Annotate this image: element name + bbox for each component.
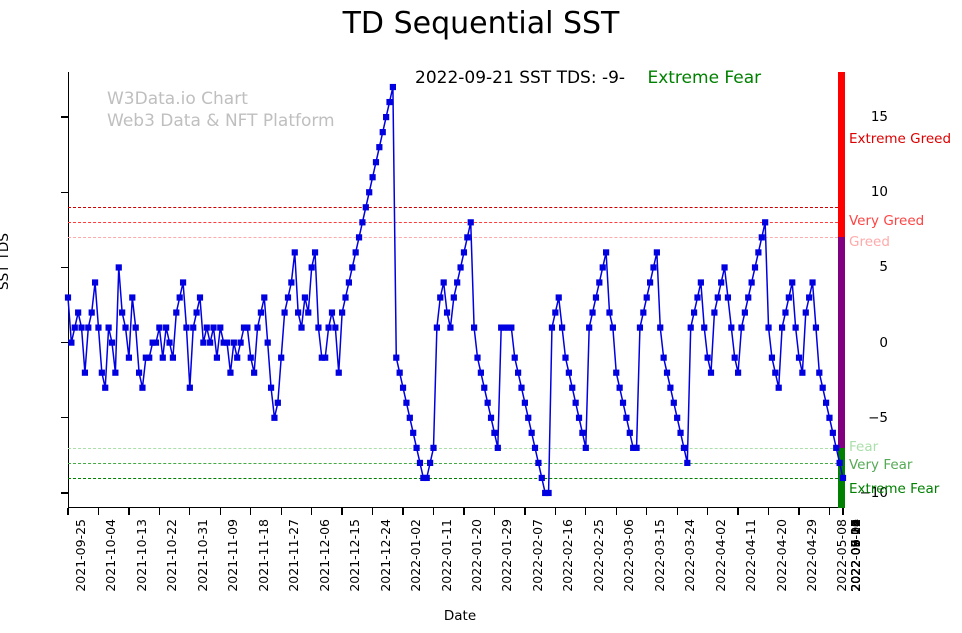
y-tick-mark [61,492,68,493]
x-tick-mark [555,508,556,515]
x-tick-mark [842,508,843,515]
x-tick-mark [707,508,708,515]
y-tick-mark [61,116,68,117]
x-tick-label: 2022-09-20 [848,519,863,592]
x-tick-mark [159,508,160,515]
x-tick-label: 2022-01-02 [408,519,423,592]
threshold-line-extreme-greed [68,207,843,208]
x-tick-mark [311,508,312,515]
x-tick-mark [585,508,586,515]
threshold-label-fear: Fear [849,439,878,455]
threshold-line-fear [68,448,843,449]
x-tick-mark [341,508,342,515]
x-tick-label: 2021-11-18 [256,519,271,592]
x-tick-mark [616,508,617,515]
x-tick-mark [494,508,495,515]
x-tick-mark [98,508,99,515]
x-tick-label: 2022-04-20 [774,519,789,592]
x-tick-mark [677,508,678,515]
x-tick-mark [402,508,403,515]
y-tick-mark [61,267,68,268]
x-tick-label: 2021-11-27 [286,519,301,592]
x-tick-label: 2021-10-22 [164,519,179,592]
y-tick-label: 5 [848,259,888,275]
x-tick-label: 2021-10-04 [103,519,118,592]
y-axis-label: SST TDS [0,233,12,290]
y-tick-mark [61,192,68,193]
threshold-line-very-fear [68,463,843,464]
y-tick-label: −5 [848,410,888,426]
x-tick-mark [798,508,799,515]
x-tick-mark [220,508,221,515]
threshold-label-very-greed: Very Greed [849,213,924,229]
threshold-line-greed [68,237,843,238]
y-tick-label: 10 [848,184,888,200]
x-tick-mark [189,508,190,515]
x-tick-mark [250,508,251,515]
y-tick-mark [61,342,68,343]
y-tick-mark [61,417,68,418]
x-tick-label: 2022-02-07 [530,519,545,592]
y-tick-label: 15 [848,109,888,125]
x-tick-label: 2022-02-16 [560,519,575,592]
chart-title: TD Sequential SST [0,6,962,41]
x-tick-mark [67,508,68,515]
colorbar-fear-zone [838,448,845,508]
threshold-label-extreme-greed: Extreme Greed [849,131,951,147]
x-tick-label: 2021-12-06 [317,519,332,592]
colorbar-neutral-zone [838,237,845,447]
x-tick-label: 2022-02-25 [591,519,606,592]
x-tick-mark [768,508,769,515]
x-tick-label: 2021-12-24 [378,519,393,592]
y-tick-label: 0 [848,335,888,351]
threshold-label-very-fear: Very Fear [849,457,912,473]
threshold-label-greed: Greed [849,234,890,250]
x-tick-mark [463,508,464,515]
x-tick-label: 2022-04-11 [743,519,758,592]
x-tick-mark [372,508,373,515]
x-tick-label: 2021-11-09 [225,519,240,592]
x-tick-mark [128,508,129,515]
x-tick-label: 2021-12-15 [347,519,362,592]
x-tick-label: 2022-04-02 [713,519,728,592]
x-tick-mark [829,508,830,515]
x-axis-label: Date [0,608,920,624]
x-tick-label: 2021-10-31 [195,519,210,592]
threshold-line-extreme-fear [68,478,843,479]
colorbar-greed-zone [838,72,845,237]
threshold-line-very-greed [68,222,843,223]
plot-area [68,72,843,508]
x-tick-mark [646,508,647,515]
x-tick-label: 2021-10-13 [134,519,149,592]
x-tick-mark [433,508,434,515]
x-tick-label: 2021-09-25 [73,519,88,592]
x-tick-label: 2022-04-29 [804,519,819,592]
chart-canvas: TD Sequential SST 2022-09-21 SST TDS: -9… [0,0,962,633]
x-tick-label: 2022-03-06 [621,519,636,592]
x-tick-label: 2022-03-15 [652,519,667,592]
threshold-label-extreme-fear: Extreme Fear [849,481,939,497]
x-tick-label: 2022-03-24 [682,519,697,592]
x-tick-label: 2022-01-29 [499,519,514,592]
x-tick-mark [281,508,282,515]
x-tick-label: 2022-01-11 [439,519,454,592]
x-tick-mark [737,508,738,515]
x-tick-mark [524,508,525,515]
x-tick-label: 2022-01-20 [469,519,484,592]
